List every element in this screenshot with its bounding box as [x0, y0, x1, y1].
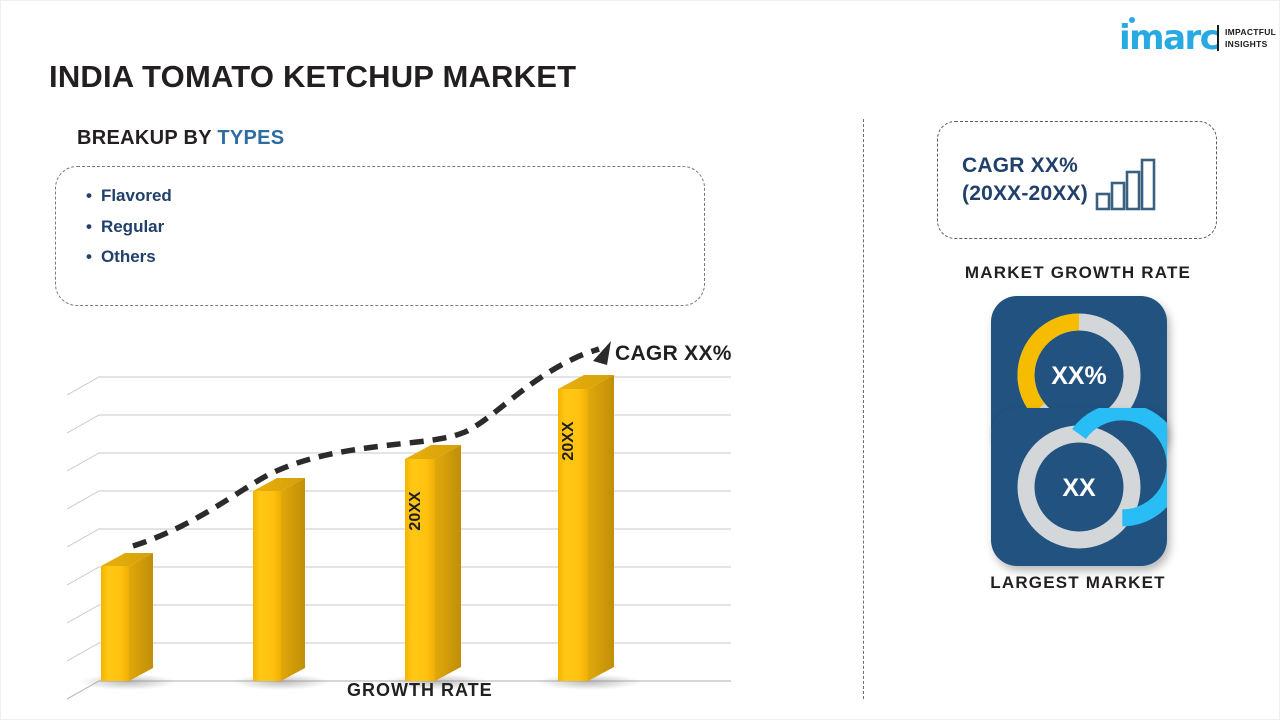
market-growth-rate-box: CAGR XX% (20XX-20XX): [937, 121, 1217, 239]
logo-divider: [1217, 25, 1219, 51]
bar-2: [233, 478, 329, 690]
trend-line: [133, 341, 611, 546]
list-item: Flavored: [86, 181, 704, 212]
metrics-panel: CAGR XX% (20XX-20XX) MARKET GROWTH RATE: [881, 111, 1280, 711]
growth-box-line2: (20XX-20XX): [962, 180, 1088, 208]
largest-market-label: LARGEST MARKET: [878, 573, 1278, 593]
largest-market-tile: XX: [991, 408, 1167, 566]
page-title: INDIA TOMATO KETCHUP MARKET: [49, 59, 576, 95]
largest-market-donut: XX: [991, 408, 1167, 566]
chart-cagr-annotation: CAGR XX%: [615, 342, 732, 366]
logo-wordmark: imarc: [1119, 21, 1218, 55]
breakup-highlight: TYPES: [217, 127, 284, 149]
logo-tagline-line2: INSIGHTS: [1225, 39, 1268, 49]
growth-box-line1: CAGR XX%: [962, 152, 1088, 180]
breakup-prefix: BREAKUP BY: [77, 127, 212, 149]
imarc-logo: imarc IMPACTFUL INSIGHTS: [1119, 15, 1269, 57]
logo-tagline: IMPACTFUL INSIGHTS: [1225, 26, 1276, 50]
bar-chart-icon: [1094, 150, 1156, 217]
logo-tagline-line1: IMPACTFUL: [1225, 27, 1276, 37]
breakup-heading: BREAKUP BY TYPES: [77, 127, 284, 150]
donut-value: XX%: [1051, 362, 1107, 390]
bar-chart-svg: 20XX 20XX: [53, 331, 753, 701]
trend-line-path: [133, 349, 599, 546]
bar-label: 20XX: [407, 491, 424, 530]
growth-bar-chart: 20XX 20XX: [53, 331, 753, 701]
panel-divider: [863, 119, 864, 699]
growth-box-text: CAGR XX% (20XX-20XX): [938, 152, 1088, 208]
chart-x-axis-label: GROWTH RATE: [347, 680, 493, 701]
list-item: Regular: [86, 212, 704, 243]
chart-gridlines: [67, 377, 731, 661]
bar-label: 20XX: [560, 421, 577, 460]
types-list: Flavored Regular Others: [56, 167, 704, 273]
trend-arrow-icon: [593, 341, 611, 365]
donut-value: XX: [1062, 474, 1096, 502]
list-item: Others: [86, 242, 704, 273]
types-list-box: Flavored Regular Others: [55, 166, 705, 306]
market-growth-rate-label: MARKET GROWTH RATE: [878, 263, 1278, 283]
bar-1: [80, 553, 176, 690]
infographic-page: imarc IMPACTFUL INSIGHTS INDIA TOMATO KE…: [0, 0, 1280, 720]
